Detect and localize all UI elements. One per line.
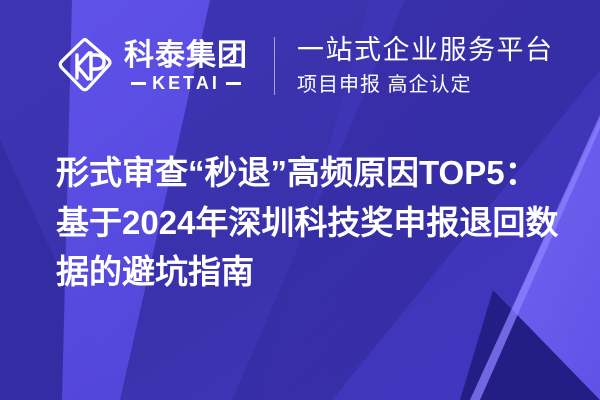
page-title: 形式审查“秒退”高频原因TOP5：基于2024年深圳科技奖申报退回数据的避坑指南 bbox=[56, 148, 568, 297]
brand-logo: 科泰集团 KETAI bbox=[58, 36, 248, 96]
banner-header: 科泰集团 KETAI 一站式企业服务平台 项目申报 高企认定 bbox=[0, 0, 600, 132]
slogan-secondary: 项目申报 高企认定 bbox=[297, 73, 554, 97]
header-divider bbox=[274, 37, 275, 95]
slogan-block: 一站式企业服务平台 项目申报 高企认定 bbox=[297, 35, 554, 97]
brand-name-cn: 科泰集团 bbox=[124, 40, 248, 72]
ketai-kp-diamond-logo-icon bbox=[58, 36, 114, 96]
brand-wordmark: 科泰集团 KETAI bbox=[124, 40, 248, 93]
brand-name-en-row: KETAI bbox=[131, 74, 241, 92]
slogan-primary: 一站式企业服务平台 bbox=[297, 35, 554, 67]
brand-dash-right-icon bbox=[226, 82, 241, 85]
brand-name-en: KETAI bbox=[152, 74, 220, 92]
brand-dash-left-icon bbox=[131, 82, 146, 85]
promo-banner: 科泰集团 KETAI 一站式企业服务平台 项目申报 高企认定 形式审查“秒退”高… bbox=[0, 0, 600, 400]
